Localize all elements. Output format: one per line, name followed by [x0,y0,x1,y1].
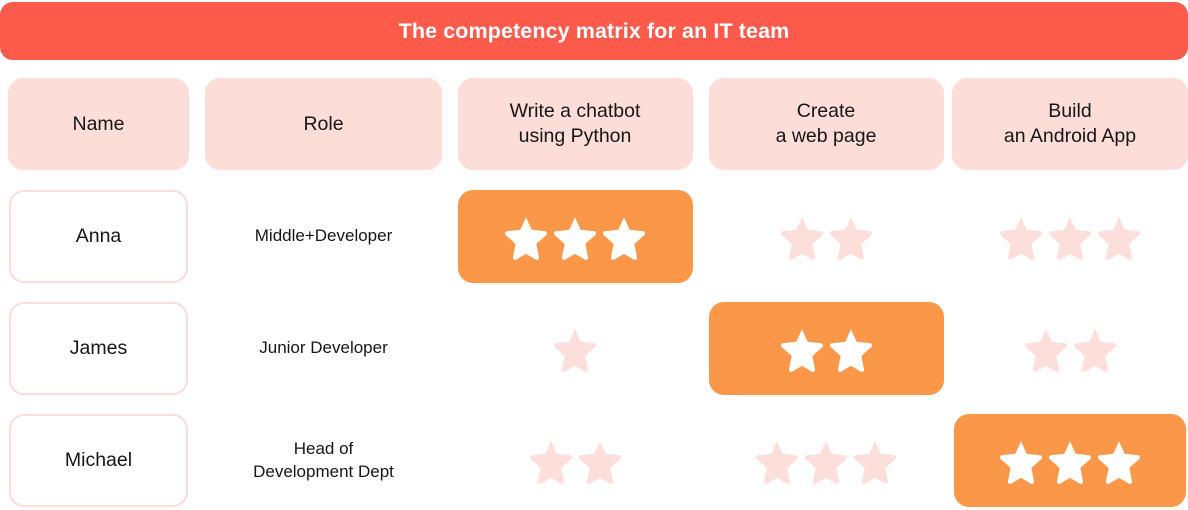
rating-python[interactable] [458,190,693,283]
header-cell-name: Name [0,78,197,170]
name-card[interactable]: Anna [9,190,188,283]
header-label-skill-webpage: Create a web page [776,99,877,149]
cell-skill-webpage [700,302,952,395]
star-icon [552,326,598,372]
role-label-line1: Head of [205,438,442,460]
name-label: Anna [76,225,122,248]
header-cell-skill-webpage: Create a web page [700,78,952,170]
page-title: The competency matrix for an IT team [399,19,790,44]
rating-android[interactable] [954,414,1186,507]
star-icon [998,438,1044,484]
name-card[interactable]: James [9,302,188,395]
header-label-name: Name [72,112,124,137]
star-icon [1096,438,1142,484]
star-icon [828,214,874,260]
competency-matrix: The competency matrix for an IT team Nam… [0,0,1188,510]
rating-webpage[interactable] [709,190,944,283]
rating-python[interactable] [458,302,693,395]
star-icon [503,214,549,260]
header-card-skill-android: Build an Android App [952,78,1188,170]
role-label-line1: Middle+Developer [255,226,393,245]
star-icon [1023,326,1069,372]
name-card[interactable]: Michael [9,414,188,507]
cell-skill-android [952,414,1188,507]
star-icon [1096,214,1142,260]
role-label: Head of Development Dept [205,438,442,482]
role-label-line1: Junior Developer [259,338,388,357]
header-label-skill-webpage-line1: Create [797,100,856,122]
rating-webpage[interactable] [709,302,944,395]
cell-skill-webpage [700,414,952,507]
cell-role: Junior Developer [197,302,450,395]
header-label-skill-python-line2: using Python [519,125,632,147]
header-cell-skill-android: Build an Android App [952,78,1188,170]
header-card-skill-python: Write a chatbot using Python [458,78,693,170]
cell-role: Middle+Developer [197,190,450,283]
star-icon [528,438,574,484]
cell-skill-android [952,190,1188,283]
rating-python[interactable] [458,414,693,507]
table-row: James Junior Developer [0,302,1188,395]
table-row: Michael Head of Development Dept [0,414,1188,507]
name-label: James [70,337,127,360]
cell-role: Head of Development Dept [197,414,450,507]
header-label-skill-android: Build an Android App [1004,99,1136,149]
star-icon [601,214,647,260]
star-icon [852,438,898,484]
star-icon [577,438,623,484]
cell-skill-python [450,302,700,395]
cell-skill-webpage [700,190,952,283]
cell-name: James [0,302,197,395]
star-icon [779,326,825,372]
rating-android[interactable] [954,190,1186,283]
star-icon [998,214,1044,260]
star-icon [779,214,825,260]
role-label: Middle+Developer [205,225,442,247]
header-label-skill-python: Write a chatbot using Python [510,99,641,149]
rating-webpage[interactable] [709,414,944,507]
star-icon [803,438,849,484]
header-label-skill-python-line1: Write a chatbot [510,100,641,122]
header-cell-skill-python: Write a chatbot using Python [450,78,700,170]
header-label-skill-webpage-line2: a web page [776,125,877,147]
role-label-line2: Development Dept [205,461,442,483]
rating-android[interactable] [954,302,1186,395]
cell-skill-python [450,414,700,507]
name-label: Michael [65,449,132,472]
header-label-role: Role [303,112,343,137]
cell-skill-android [952,302,1188,395]
title-bar: The competency matrix for an IT team [0,2,1188,60]
star-icon [1072,326,1118,372]
cell-skill-python [450,190,700,283]
star-icon [1047,214,1093,260]
star-icon [1047,438,1093,484]
header-cell-role: Role [197,78,450,170]
table-header-row: Name Role Write a chatbot using Python C… [0,78,1188,170]
cell-name: Anna [0,190,197,283]
header-card-name: Name [8,78,189,170]
header-label-skill-android-line2: an Android App [1004,125,1136,147]
table-row: Anna Middle+Developer [0,190,1188,283]
header-card-role: Role [205,78,442,170]
star-icon [828,326,874,372]
star-icon [754,438,800,484]
star-icon [552,214,598,260]
role-label: Junior Developer [205,337,442,359]
header-label-skill-android-line1: Build [1048,100,1091,122]
cell-name: Michael [0,414,197,507]
header-card-skill-webpage: Create a web page [709,78,944,170]
